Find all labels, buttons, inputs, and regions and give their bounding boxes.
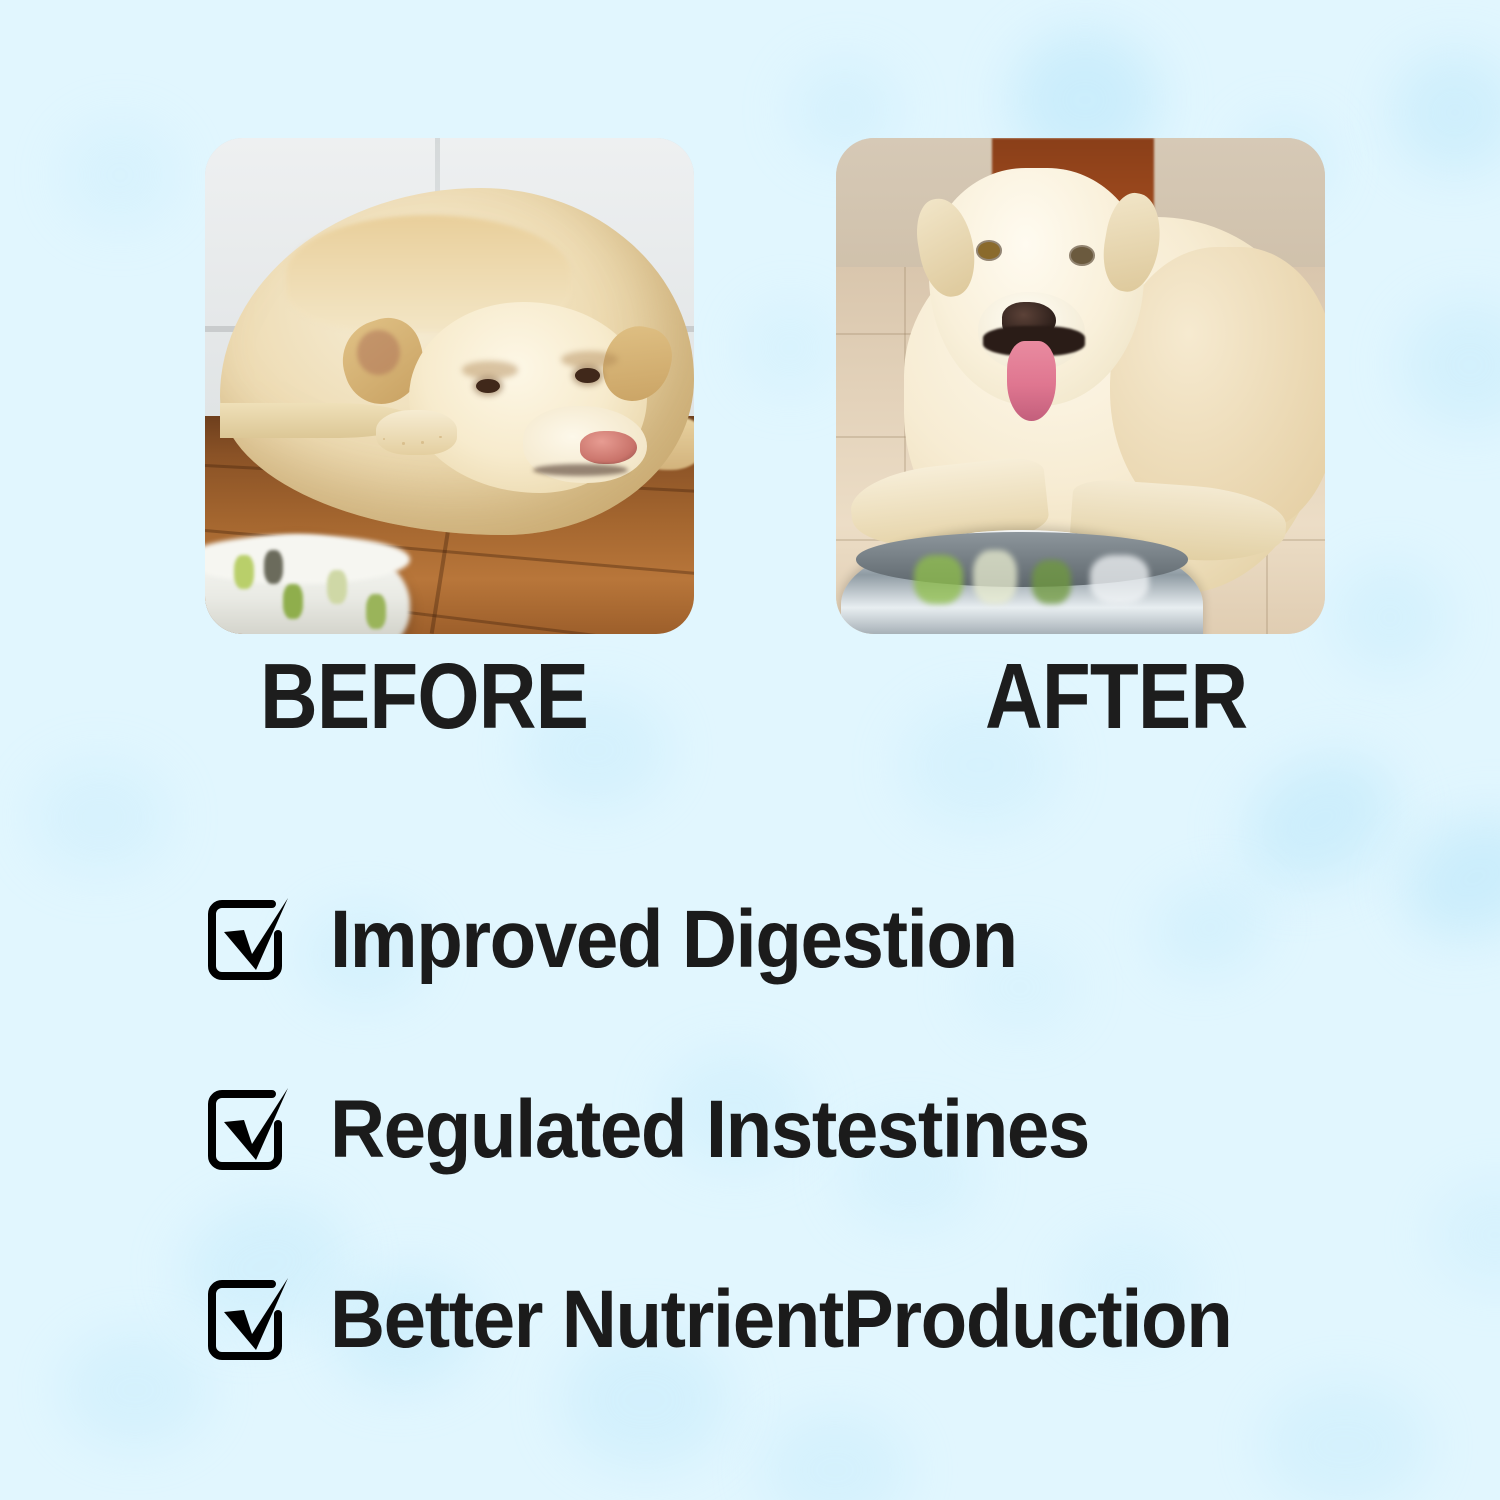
benefit-label: Better NutrientProduction <box>330 1279 1231 1361</box>
after-label: AFTER <box>985 650 1247 743</box>
before-after-comparison <box>205 138 1310 634</box>
dog-brow-right <box>561 351 618 368</box>
after-photo-card <box>836 138 1325 634</box>
dog-brow-left <box>462 361 519 378</box>
checkbox-checked-icon <box>200 1080 300 1180</box>
checkbox-checked-icon <box>200 1270 300 1370</box>
benefits-list: Improved Digestion Regulated Instestines… <box>200 845 1460 1415</box>
bowl-reflection <box>1032 560 1071 605</box>
benefit-label: Regulated Instestines <box>330 1089 1089 1171</box>
bowl-reflection <box>914 555 963 605</box>
dog-toe <box>383 438 386 440</box>
dog-eye-left <box>978 242 1000 259</box>
food-piece <box>283 584 303 619</box>
infographic-stage: BEFORE AFTER Improved Digestion Regulate… <box>0 0 1500 1500</box>
benefit-item-improved-digestion: Improved Digestion <box>200 845 1460 1035</box>
dog-toe <box>439 436 442 438</box>
dog-tongue <box>1007 341 1056 420</box>
benefit-item-better-nutrient-production: Better NutrientProduction <box>200 1225 1460 1415</box>
bowl-reflection <box>1090 555 1149 605</box>
before-photo <box>205 138 694 634</box>
after-photo <box>836 138 1325 634</box>
food-piece <box>366 594 386 629</box>
benefit-label: Improved Digestion <box>330 899 1017 981</box>
food-piece <box>327 570 347 605</box>
comparison-labels: BEFORE AFTER <box>205 650 1310 755</box>
dog-ear-inner <box>357 330 400 375</box>
food-piece <box>234 555 254 590</box>
food-piece <box>264 550 284 585</box>
before-photo-card <box>205 138 694 634</box>
checkbox-checked-icon <box>200 890 300 990</box>
dog-paw <box>376 410 457 455</box>
dog-eye-right <box>1071 247 1093 264</box>
dog-eye-right <box>575 368 600 383</box>
dog-nose <box>580 431 637 464</box>
before-label: BEFORE <box>260 650 588 743</box>
dog-toe <box>402 442 405 444</box>
dog-toe <box>421 441 424 443</box>
bowl-reflection <box>973 550 1017 605</box>
dog-mouth-line <box>533 464 628 476</box>
benefit-item-regulated-instestines: Regulated Instestines <box>200 1035 1460 1225</box>
